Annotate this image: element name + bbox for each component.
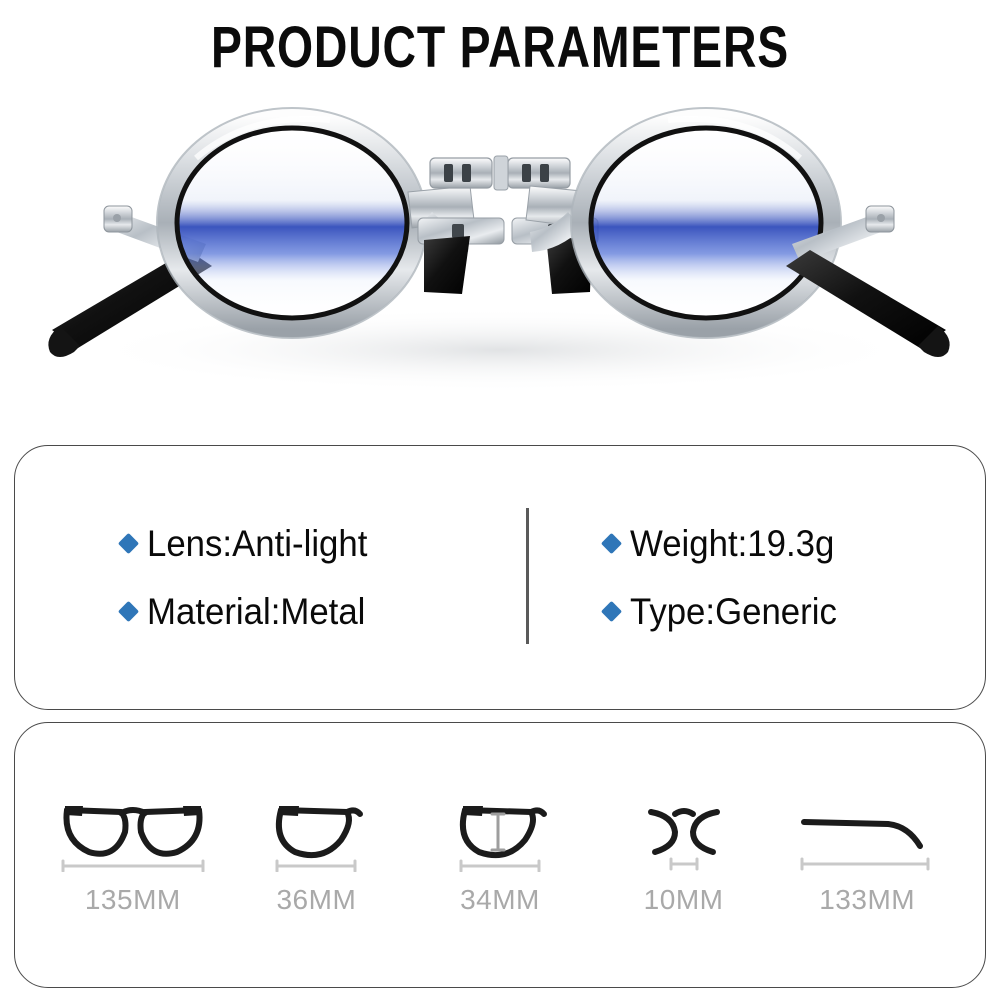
spec-item-material: Material:Metal (121, 591, 500, 633)
dimensions-card: 135MM (14, 722, 986, 988)
spec-label-lens: Lens:Anti-light (147, 523, 367, 565)
dimension-item-frame-width: 135MM (43, 794, 223, 916)
diamond-bullet-icon (601, 533, 622, 554)
dimension-item-bridge-width: 10MM (594, 794, 774, 916)
spec-column-divider (526, 508, 529, 644)
single-lens-height-icon (445, 794, 555, 872)
diamond-bullet-icon (118, 601, 139, 622)
spec-label-type: Type:Generic (630, 591, 837, 633)
diamond-bullet-icon (601, 601, 622, 622)
dimension-item-lens-height: 34MM (410, 794, 590, 916)
diamond-bullet-icon (118, 533, 139, 554)
spec-item-lens: Lens:Anti-light (121, 523, 500, 565)
product-photo (0, 100, 1000, 420)
temple-arm-icon (792, 794, 942, 872)
spec-item-type: Type:Generic (604, 591, 985, 633)
page-title: PRODUCT PARAMETERS (100, 14, 900, 81)
dimension-label-frame-width: 135MM (85, 884, 181, 916)
dimension-item-temple-length: 133MM (777, 794, 957, 916)
spec-column-right: Weight:19.3g Type:Generic (500, 523, 985, 633)
product-parameters-page: PRODUCT PARAMETERS (0, 0, 1000, 1000)
dimension-label-lens-height: 34MM (460, 884, 540, 916)
bridge-width-icon (629, 794, 739, 872)
dimension-item-lens-width: 36MM (226, 794, 406, 916)
spec-item-weight: Weight:19.3g (604, 523, 985, 565)
dimension-label-bridge-width: 10MM (644, 884, 724, 916)
spec-label-material: Material:Metal (147, 591, 365, 633)
specifications-card: Lens:Anti-light Material:Metal Weight:19… (14, 445, 986, 710)
dimension-label-lens-width: 36MM (276, 884, 356, 916)
spec-column-left: Lens:Anti-light Material:Metal (15, 523, 500, 633)
full-frame-front-icon (49, 794, 217, 872)
single-lens-width-icon (261, 794, 371, 872)
dimension-label-temple-length: 133MM (819, 884, 915, 916)
spec-label-weight: Weight:19.3g (630, 523, 834, 565)
